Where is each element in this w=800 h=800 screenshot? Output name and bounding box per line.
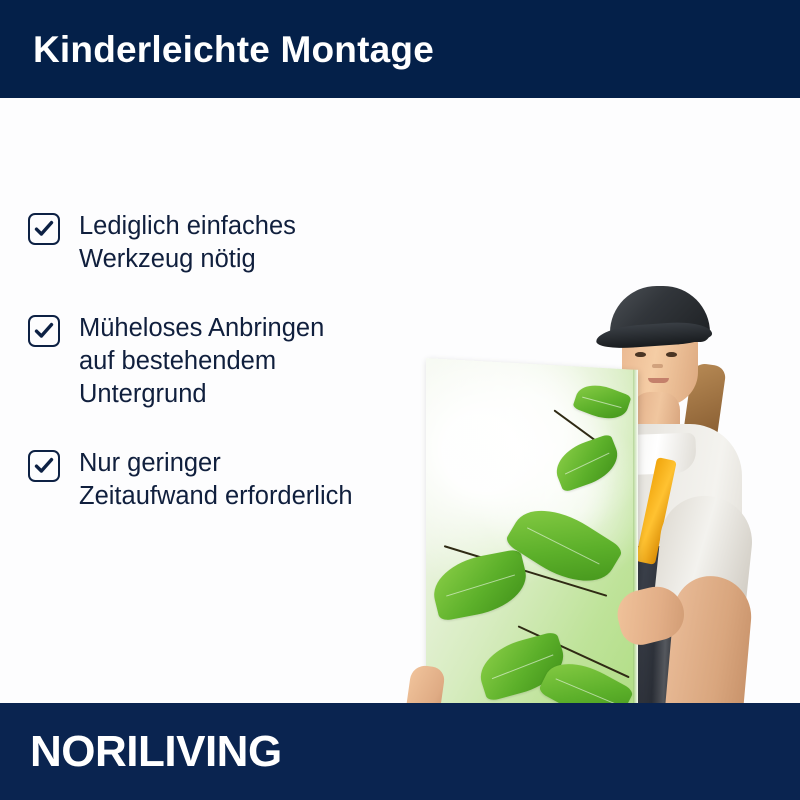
content-area: Lediglich einfaches Werkzeug nötig Mühel… xyxy=(0,98,800,703)
leaf xyxy=(549,433,625,492)
page-title: Kinderleichte Montage xyxy=(33,31,434,68)
checkbox-checked-icon xyxy=(28,450,60,482)
list-item-label: Nur geringer Zeitaufwand erforderlich xyxy=(79,447,353,513)
header-bar: Kinderleichte Montage xyxy=(0,0,800,98)
eye-left xyxy=(635,352,646,357)
list-item: Nur geringer Zeitaufwand erforderlich xyxy=(28,447,448,513)
list-item: Lediglich einfaches Werkzeug nötig xyxy=(28,210,448,276)
mouth xyxy=(648,378,669,383)
footer-bar: NORILIVING xyxy=(0,703,800,800)
checkbox-checked-icon xyxy=(28,315,60,347)
promo-banner: Kinderleichte Montage Lediglich einfache… xyxy=(0,0,800,800)
brand-logo: NORILIVING xyxy=(30,730,282,774)
nose xyxy=(652,364,663,368)
leaf xyxy=(427,549,534,622)
list-item: Müheloses Anbringen auf bestehendem Unte… xyxy=(28,312,448,411)
checkbox-checked-icon xyxy=(28,213,60,245)
benefits-list: Lediglich einfaches Werkzeug nötig Mühel… xyxy=(28,210,448,513)
leaf xyxy=(572,378,631,427)
list-item-label: Müheloses Anbringen auf bestehendem Unte… xyxy=(79,312,324,411)
list-item-label: Lediglich einfaches Werkzeug nötig xyxy=(79,210,296,276)
eye-right xyxy=(666,352,677,357)
